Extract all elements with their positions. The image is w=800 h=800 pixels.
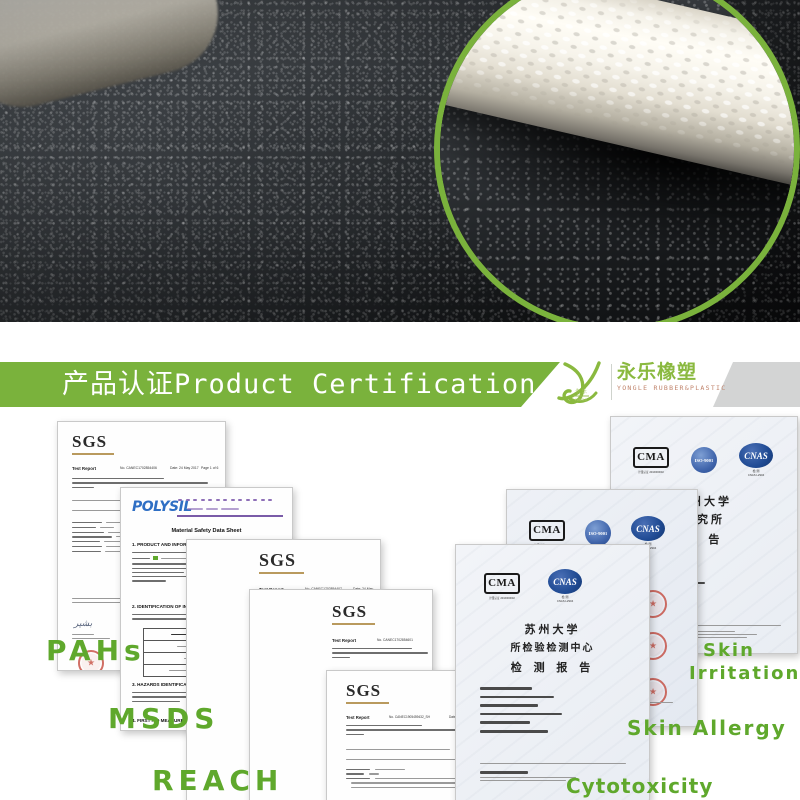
cma-mark: CMA 计量认证 2016000002 [633,447,669,474]
magnified-detail-circle [434,0,800,322]
doc-page: Page 1 of 6 [201,466,218,470]
sgs-wordmark: SGS [72,432,114,452]
certificates-collage: SGS Test Report No. CANEC1702854406 Date… [0,408,800,800]
doc-ref-no: No. CANEC1905459432_SH [389,715,430,719]
doc-date: Date: 24 May 2017 [170,466,199,470]
doc-ref-no: No. CANEC1702854601 [377,638,413,642]
certification-marks: CMA 计量认证 2016000002 ISO-9001 CNAS 检 测 CN… [633,443,773,477]
sgs-logo: SGS [346,681,389,704]
iso-mark: ISO-9001 [585,520,611,546]
category-label-pahs: PAHs [46,634,146,667]
hero-product-photo [0,0,800,322]
category-label-skin: Skin [703,640,755,661]
category-label-cytotoxicity: Cytotoxicity [566,774,713,798]
category-label-reach: REACH [152,764,283,797]
category-label-msds: MSDS [108,702,219,735]
doc-type-label: Test Report [72,466,96,471]
iso-mark: ISO-9001 [691,447,717,473]
brand-text-block: 永乐橡塑 YONGLE RUBBER&PLASTIC [617,362,726,393]
cnas-mark: CNAS 检 测 CNAS L2904 [739,443,773,477]
msds-title: Material Safety Data Sheet [121,528,292,534]
svg-text:永 乐: 永 乐 [575,388,587,395]
page-title: 产品认证Product Certification [62,362,536,407]
cert-report-title: 检 测 报 告 [456,659,649,675]
certification-marks: CMA 计量认证 2016000002 CNAS 检 测 CNAS L2904 [484,569,582,603]
cma-mark: CMA 计量认证 2016000002 [484,573,520,600]
msds-company-cn [178,499,272,501]
cma-mark: CMA 计量认证 2016000002 [529,520,565,547]
doc-type-label: Test Report [332,638,356,643]
brand-name-en: YONGLE RUBBER&PLASTIC [617,383,726,393]
svg-text:YONGLE: YONGLE [575,398,587,402]
authorized-signature: بشير [74,618,92,629]
document-cert-soochow-c[interactable]: CMA 计量认证 2016000002 CNAS 检 测 CNAS L2904 … [455,544,650,800]
category-label-skin-allergy: Skin Allergy [627,716,787,740]
brand-name-cn: 永乐橡塑 [617,362,726,383]
doc-type-label: Test Report [346,715,370,720]
sgs-logo: SGS [259,550,304,574]
polysil-logo: POLYSIL [132,499,192,515]
sgs-logo: SGS [332,602,375,625]
cert-institute: 所检验检测中心 [456,639,649,654]
sgs-logo: SGS [72,432,114,455]
sgs-wordmark: SGS [259,550,304,571]
yongle-leaf-mark: 永 乐 YONGLE [555,360,611,408]
logo-divider [611,364,612,400]
doc-ref-no: No. CANEC1702854406 [120,466,157,470]
cert-org-name: 苏州大学 [456,621,649,637]
sgs-wordmark: SGS [332,602,375,622]
company-logo: 永 乐 YONGLE 永乐橡塑 YONGLE RUBBER&PLASTIC [555,358,710,410]
product-certification-page: 产品认证Product Certification 永 乐 YONGLE 永乐橡… [0,0,800,800]
sgs-wordmark: SGS [346,681,389,701]
cnas-mark: CNAS 检 测 CNAS L2904 [548,569,582,603]
category-label-irritation: Irritation [689,663,800,684]
